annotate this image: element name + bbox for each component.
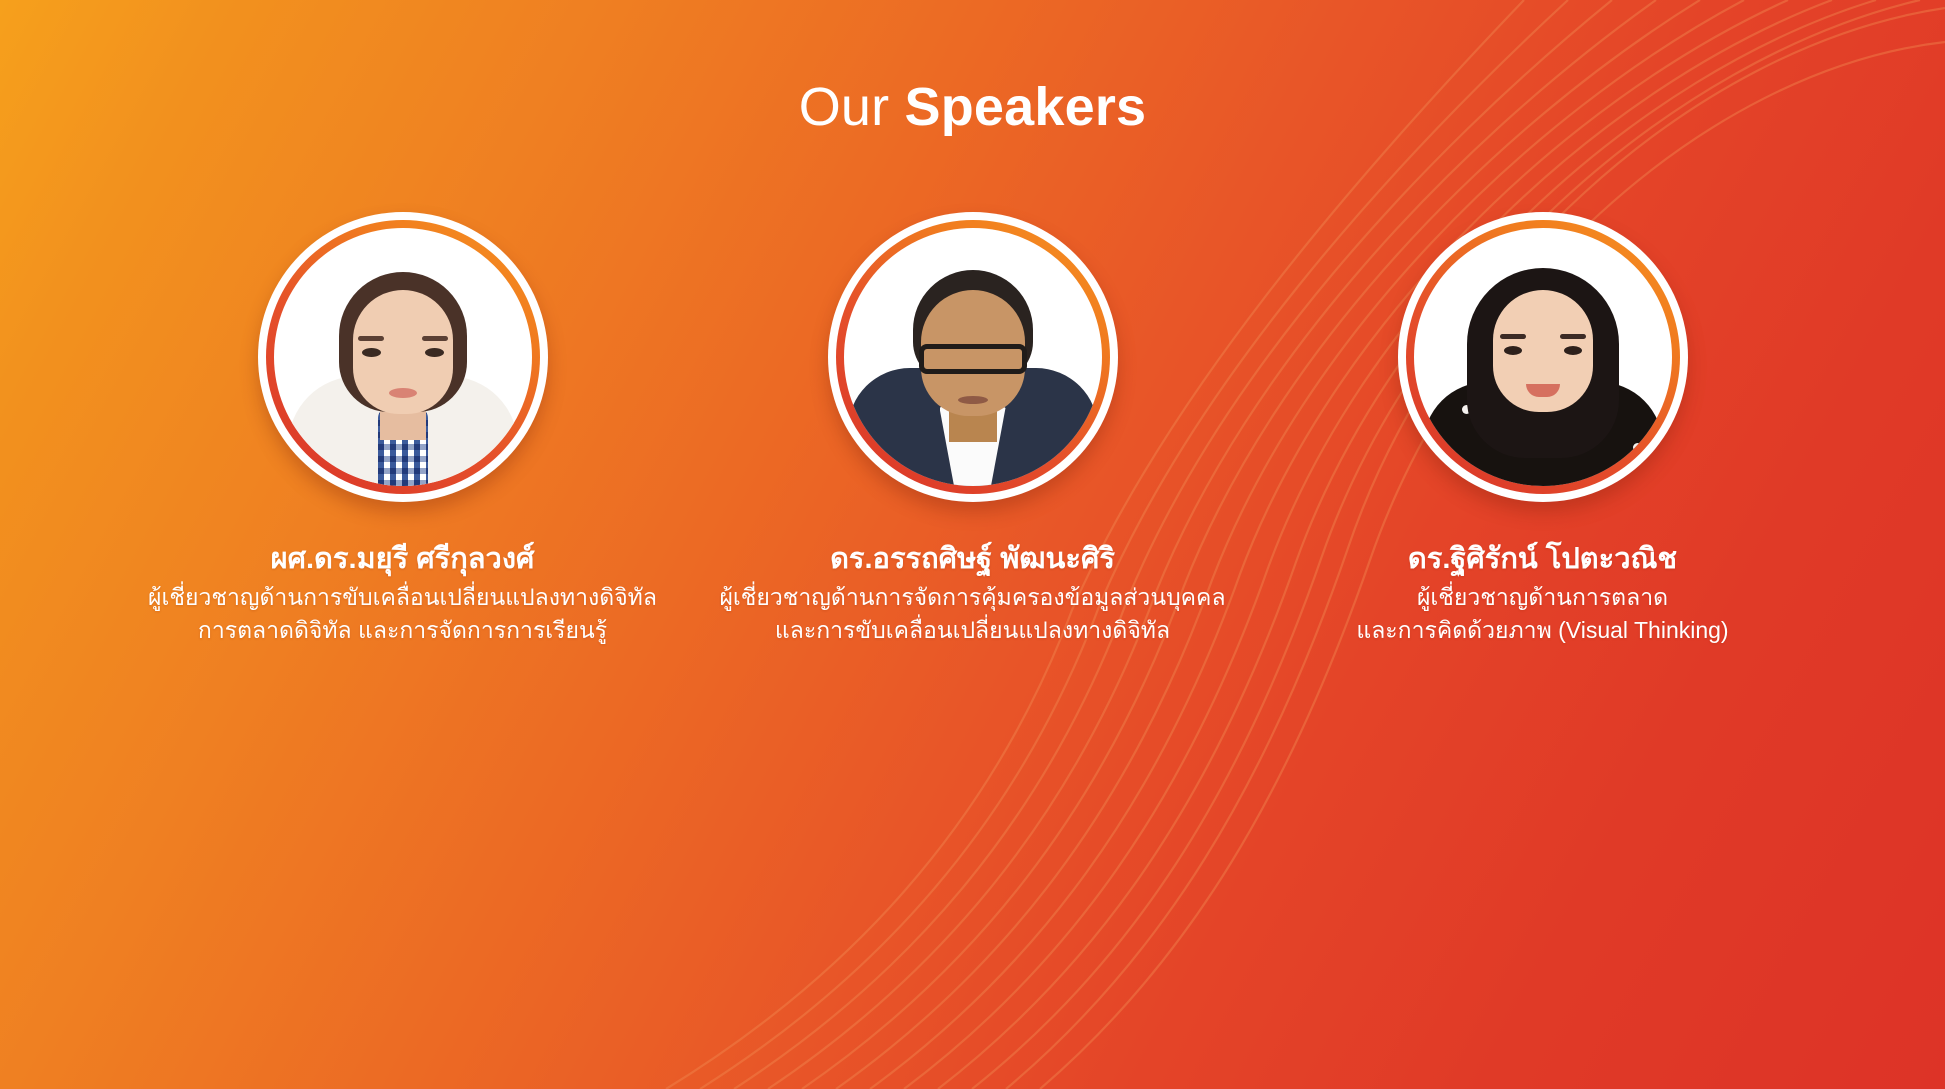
speaker-role-2-line-1: ผู้เชี่ยวชาญด้านการจัดการคุ้มครองข้อมูลส… xyxy=(693,581,1253,614)
speaker-caption-3: ดร.ฐิศิรักน์ โปตะวณิช ผู้เชี่ยวชาญด้านกา… xyxy=(1263,540,1823,647)
page-title-wrapper: Our Speakers xyxy=(0,40,1945,174)
avatar-photo-2 xyxy=(844,228,1102,486)
speaker-name-1: ผศ.ดร.มยุรี ศรีกุลวงศ์ xyxy=(123,540,683,578)
speaker-card-2: ดร.อรรถศิษฐ์ พัฒนะศิริ ผู้เชี่ยวชาญด้านก… xyxy=(693,212,1253,647)
speaker-role-1-line-1: ผู้เชี่ยวชาญด้านการขับเคลื่อนเปลี่ยนแปลง… xyxy=(123,581,683,614)
speaker-role-1-line-2: การตลาดดิจิทัล และการจัดการการเรียนรู้ xyxy=(123,614,683,647)
speakers-row: ผศ.ดร.มยุรี ศรีกุลวงศ์ ผู้เชี่ยวชาญด้านก… xyxy=(0,212,1945,647)
page-title-light: Our xyxy=(799,77,905,137)
speaker-role-2-line-2: และการขับเคลื่อนเปลี่ยนแปลงทางดิจิทัล xyxy=(693,614,1253,647)
avatar-1 xyxy=(258,212,548,502)
page-title: Our Speakers xyxy=(799,76,1147,138)
speaker-name-3: ดร.ฐิศิรักน์ โปตะวณิช xyxy=(1263,540,1823,578)
speaker-role-3-line-2: และการคิดด้วยภาพ (Visual Thinking) xyxy=(1263,614,1823,647)
portrait-image-3 xyxy=(1414,228,1672,486)
portrait-image-1 xyxy=(274,228,532,486)
portrait-image-2 xyxy=(844,228,1102,486)
speaker-caption-2: ดร.อรรถศิษฐ์ พัฒนะศิริ ผู้เชี่ยวชาญด้านก… xyxy=(693,540,1253,647)
avatar-photo-1 xyxy=(274,228,532,486)
speaker-card-3: ดร.ฐิศิรักน์ โปตะวณิช ผู้เชี่ยวชาญด้านกา… xyxy=(1263,212,1823,647)
avatar-2 xyxy=(828,212,1118,502)
page-title-bold: Speakers xyxy=(905,77,1147,137)
avatar-3 xyxy=(1398,212,1688,502)
speaker-role-3-line-1: ผู้เชี่ยวชาญด้านการตลาด xyxy=(1263,581,1823,614)
speakers-slide: Our Speakers xyxy=(0,0,1945,1089)
avatar-photo-3 xyxy=(1414,228,1672,486)
speaker-name-2: ดร.อรรถศิษฐ์ พัฒนะศิริ xyxy=(693,540,1253,578)
speaker-caption-1: ผศ.ดร.มยุรี ศรีกุลวงศ์ ผู้เชี่ยวชาญด้านก… xyxy=(123,540,683,647)
speaker-card-1: ผศ.ดร.มยุรี ศรีกุลวงศ์ ผู้เชี่ยวชาญด้านก… xyxy=(123,212,683,647)
